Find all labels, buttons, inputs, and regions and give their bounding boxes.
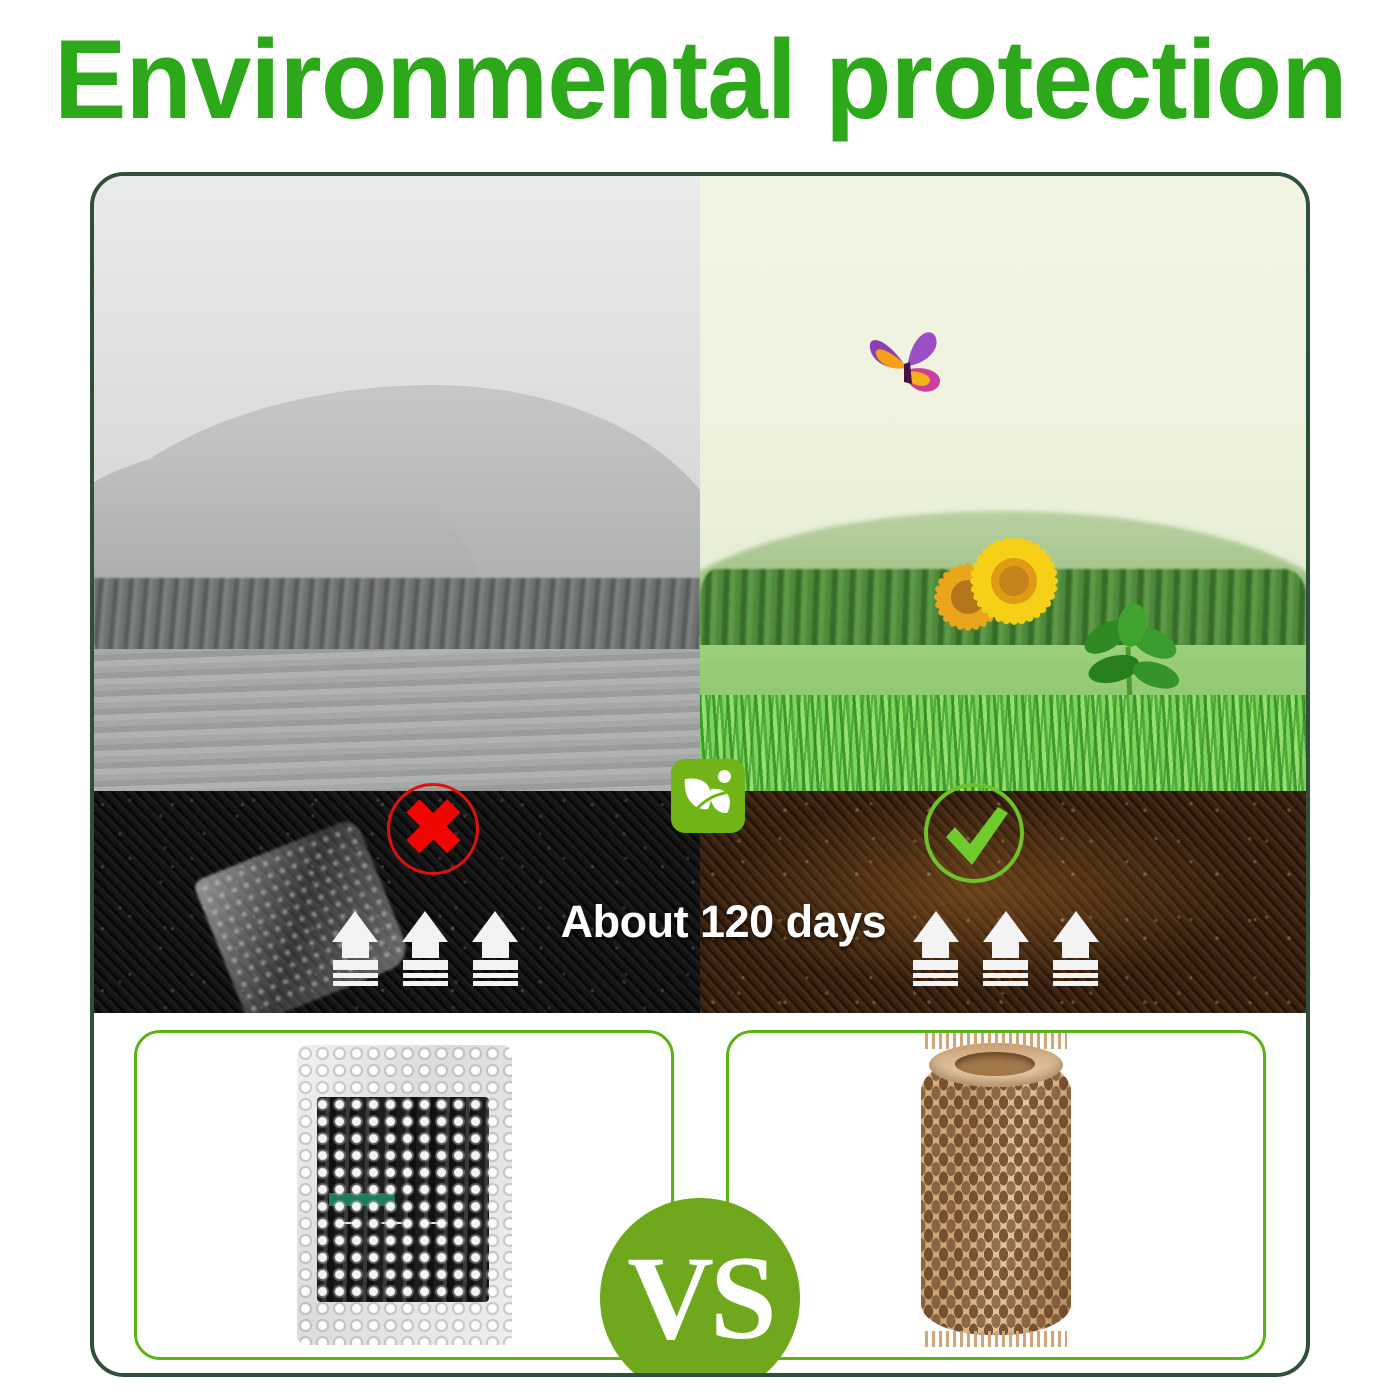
leaf-glyph <box>671 759 745 833</box>
butterfly-icon <box>858 318 968 404</box>
comparison-half-plastic <box>94 176 700 1013</box>
product-buttons <box>327 1215 457 1231</box>
comparison-panel: ✖ About 120 days <box>94 176 1306 1013</box>
arrow-up-icon <box>1052 911 1099 987</box>
vs-label: VS <box>627 1238 772 1358</box>
check-glyph <box>942 803 1012 869</box>
arrow-up-icon <box>472 911 519 987</box>
decompose-arrows-left <box>332 911 519 987</box>
wrapped-product <box>317 1097 489 1302</box>
page-title: Environmental protection <box>54 24 1347 136</box>
plastic-bubble-wrap-package-image <box>297 1045 512 1345</box>
grey-field <box>94 649 700 800</box>
product-label-strip <box>329 1193 395 1206</box>
arrow-up-icon <box>912 911 959 987</box>
duration-label: About 120 days <box>561 896 887 948</box>
arrow-up-icon <box>332 911 379 987</box>
sunflower-icon <box>906 519 1086 689</box>
arrow-up-icon <box>402 911 449 987</box>
kraft-honeycomb-paper-roll-image <box>921 1055 1071 1335</box>
product-box-plastic[interactable] <box>134 1030 674 1360</box>
comparison-half-paper <box>700 176 1306 1013</box>
honeycomb-fringe-top <box>925 1033 1067 1049</box>
x-glyph: ✖ <box>401 791 465 867</box>
green-check-icon <box>924 783 1024 883</box>
red-x-icon: ✖ <box>387 783 479 875</box>
product-box-paper[interactable] <box>726 1030 1266 1360</box>
infographic-card: ✖ About 120 days <box>90 172 1310 1377</box>
arrow-up-icon <box>982 911 1029 987</box>
honeycomb-roll-opening <box>929 1043 1063 1087</box>
leaf-icon <box>671 759 745 833</box>
decompose-arrows-right <box>912 911 1099 987</box>
leaf-dot <box>718 770 731 783</box>
page-header: Environmental protection <box>0 0 1400 160</box>
honeycomb-fringe-bottom <box>925 1331 1067 1347</box>
